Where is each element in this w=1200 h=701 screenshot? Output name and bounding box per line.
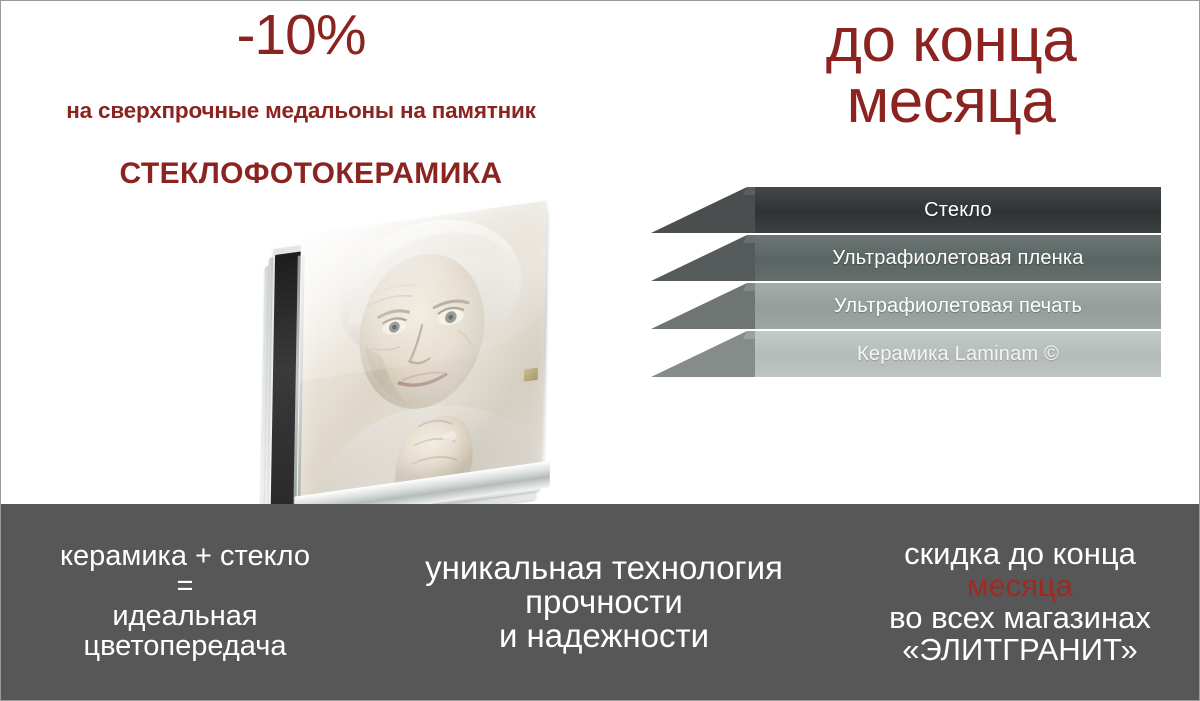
- benefit-line: прочности: [375, 585, 833, 619]
- benefit-line: керамика + стекло: [11, 542, 359, 572]
- promo-banner: -10% на сверхпрочные медальоны на памятн…: [0, 0, 1200, 701]
- layer-side-face-icon: [651, 283, 763, 329]
- offer-line-accent: месяца: [843, 570, 1197, 602]
- layer-label: Ультрафиолетовая пленка: [832, 247, 1083, 270]
- benefit-line: =: [11, 572, 359, 602]
- benefit-line: и надежности: [375, 619, 833, 653]
- layer-label: Стекло: [924, 199, 992, 222]
- product-name-heading: СТЕКЛОФОТОКЕРАМИКА: [1, 159, 621, 189]
- benefit-column-technology: уникальная технология прочности и надежн…: [369, 551, 839, 653]
- banner-top-section: -10% на сверхпрочные медальоны на памятн…: [1, 1, 1200, 504]
- deadline-heading: до конца месяца: [701, 11, 1200, 133]
- deadline-line-2: месяца: [701, 72, 1200, 133]
- manufacturer-logo-mark: [524, 368, 538, 382]
- deadline-line-1: до конца: [701, 11, 1200, 72]
- benefit-line: уникальная технология: [375, 551, 833, 585]
- layer-row: Керамика Laminam ©: [651, 331, 1161, 377]
- layer-side-face-icon: [651, 331, 763, 377]
- layer-label: Ультрафиолетовая печать: [834, 295, 1082, 318]
- glass-medallion-assembly: [239, 165, 700, 538]
- discount-value: -10%: [1, 7, 601, 64]
- layer-bar: Стекло: [755, 187, 1161, 233]
- layer-side-face-icon: [651, 235, 763, 281]
- layer-bar: Керамика Laminam ©: [755, 331, 1161, 377]
- layer-bar: Ультрафиолетовая пленка: [755, 235, 1161, 281]
- benefits-bar: керамика + стекло = идеальная цветоперед…: [1, 504, 1200, 700]
- product-photo: [239, 199, 699, 504]
- benefit-column-color: керамика + стекло = идеальная цветоперед…: [1, 542, 369, 661]
- benefit-line: идеальная: [11, 602, 359, 632]
- discount-subtitle: на сверхпрочные медальоны на памятник: [1, 100, 601, 123]
- layer-row: Ультрафиолетовая пленка: [651, 235, 1161, 281]
- offer-line-3: во всех магазинах: [843, 602, 1197, 634]
- layer-bar: Ультрафиолетовая печать: [755, 283, 1161, 329]
- benefit-column-offer: скидка до конца месяца во всех магазинах…: [839, 538, 1200, 666]
- offer-line-1: скидка до конца: [843, 538, 1197, 570]
- layer-structure-diagram: Стекло Ультрафиолетовая пленка: [651, 187, 1161, 387]
- offer-store-name: «ЭЛИТГРАНИТ»: [843, 634, 1197, 666]
- layer-label: Керамика Laminam ©: [857, 343, 1059, 366]
- layer-row: Стекло: [651, 187, 1161, 233]
- benefit-line: цветопередача: [11, 632, 359, 662]
- layer-side-face-icon: [651, 187, 763, 233]
- layer-row: Ультрафиолетовая печать: [651, 283, 1161, 329]
